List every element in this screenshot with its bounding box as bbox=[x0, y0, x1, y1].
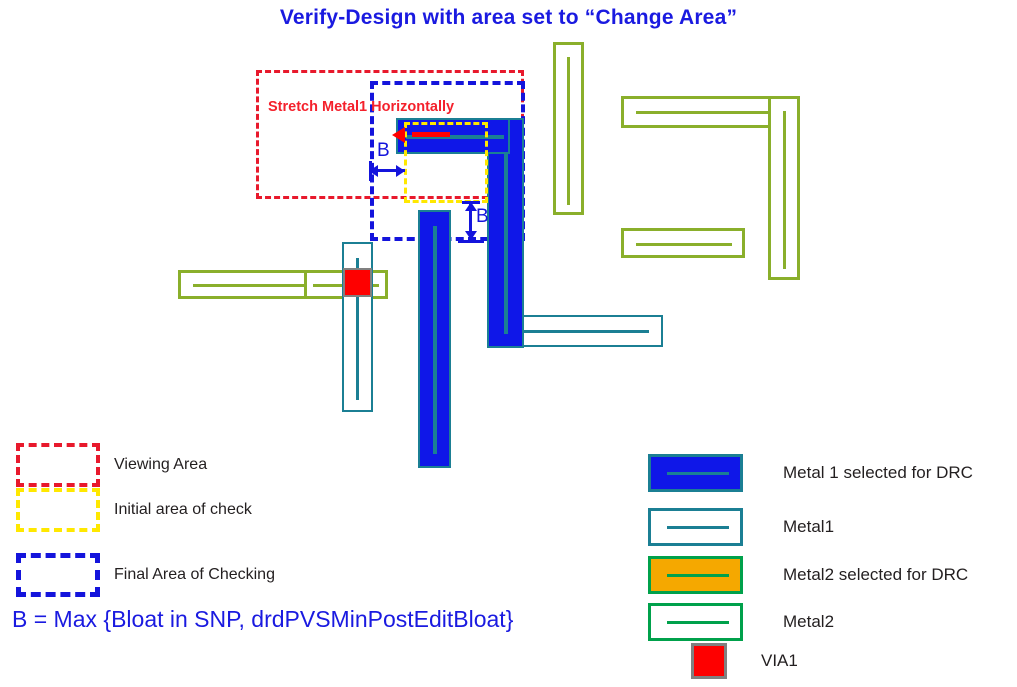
legend-item-metal1-selected: Metal 1 selected for DRC bbox=[648, 454, 973, 492]
metal2-vertical-right-tall-bar bbox=[768, 96, 800, 280]
page-title: Verify-Design with area set to “Change A… bbox=[0, 6, 1017, 30]
dim-h-right-arrowhead bbox=[396, 165, 405, 177]
formula-label: B = Max {Bloat in SNP, drdPVSMinPostEdit… bbox=[12, 606, 513, 633]
diagram-canvas: Verify-Design with area set to “Change A… bbox=[0, 0, 1017, 687]
metal2-horizontal-upper-right-bar bbox=[621, 96, 788, 128]
dim-h-left-arrowhead bbox=[369, 165, 378, 177]
legend-label-metal1-selected: Metal 1 selected for DRC bbox=[783, 463, 973, 483]
stretch-note-label: Stretch Metal1 Horizontally bbox=[268, 99, 454, 115]
legend-swatch-viewing-area bbox=[16, 443, 100, 487]
legend-label-metal2: Metal2 bbox=[783, 612, 834, 632]
legend-swatch-via1 bbox=[691, 643, 727, 679]
legend-label-initial-area: Initial area of check bbox=[114, 501, 252, 519]
dim-v-down-arrowhead bbox=[465, 231, 477, 240]
legend-item-via1: VIA1 bbox=[691, 643, 798, 679]
legend-swatch-initial-area bbox=[16, 488, 100, 532]
legend-item-metal2: Metal2 bbox=[648, 603, 834, 641]
legend-item-metal1: Metal1 bbox=[648, 508, 834, 546]
legend-label-metal2-selected: Metal2 selected for DRC bbox=[783, 565, 968, 585]
legend-item-viewing-area: Viewing Area bbox=[16, 443, 207, 487]
legend-item-final-area: Final Area of Checking bbox=[16, 553, 275, 597]
legend-swatch-metal2 bbox=[648, 603, 743, 641]
legend-label-via1: VIA1 bbox=[761, 651, 798, 671]
dim-v-bottom-tick bbox=[458, 240, 484, 243]
legend-item-metal2-selected: Metal2 selected for DRC bbox=[648, 556, 968, 594]
metal1-selected-vertical-center-bar bbox=[418, 210, 451, 468]
metal2-vertical-tall-bar bbox=[553, 42, 584, 215]
legend-swatch-metal1-selected bbox=[648, 454, 743, 492]
dimension-b-horizontal: B bbox=[365, 140, 495, 182]
legend-item-initial-area: Initial area of check bbox=[16, 488, 252, 532]
dimension-b-vertical: B bbox=[456, 198, 506, 246]
dimension-b-horizontal-label: B bbox=[377, 140, 390, 162]
legend-label-final-area: Final Area of Checking bbox=[114, 566, 275, 584]
legend-swatch-final-area bbox=[16, 553, 100, 597]
dimension-b-vertical-label: B bbox=[476, 206, 489, 228]
via1-left bbox=[343, 268, 372, 297]
legend-swatch-metal1 bbox=[648, 508, 743, 546]
stretch-arrow-shaft bbox=[412, 132, 450, 137]
legend-label-viewing-area: Viewing Area bbox=[114, 456, 207, 474]
metal2-horizontal-lower-right-bar bbox=[621, 228, 745, 258]
legend-swatch-metal2-selected bbox=[648, 556, 743, 594]
dim-v-up-arrowhead bbox=[465, 202, 477, 211]
legend-label-metal1: Metal1 bbox=[783, 517, 834, 537]
